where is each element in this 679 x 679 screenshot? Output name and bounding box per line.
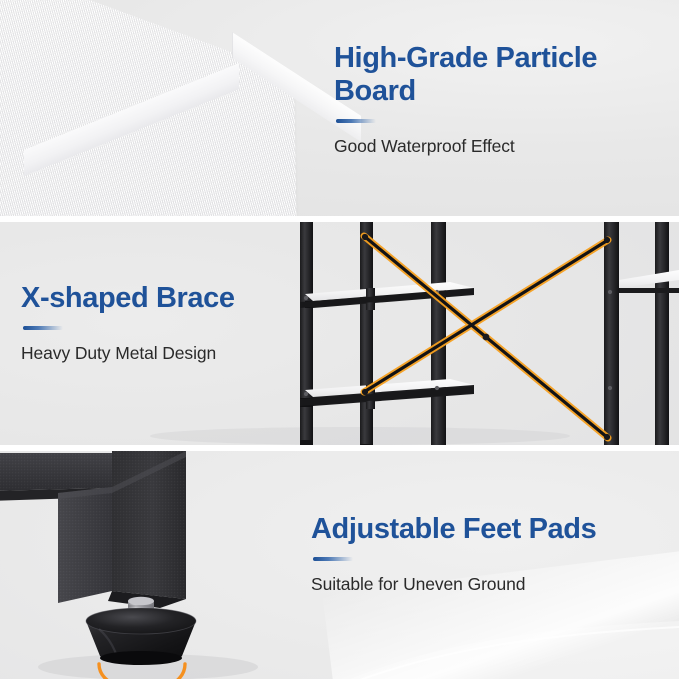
panel-1-headline: High-Grade Particle Board bbox=[334, 42, 670, 108]
panel-1-subline: Good Waterproof Effect bbox=[334, 136, 670, 158]
panel-particle-board: High-Grade Particle Board Good Waterproo… bbox=[0, 0, 679, 216]
panel-2-text-block: X-shaped Brace Heavy Duty Metal Design bbox=[21, 282, 321, 365]
panel-feet-pads: Adjustable Feet Pads Suitable for Uneven… bbox=[0, 451, 679, 679]
panel-3-accent-bar bbox=[313, 557, 353, 561]
panel-3-headline: Adjustable Feet Pads bbox=[311, 513, 661, 546]
panel-x-brace: X-shaped Brace Heavy Duty Metal Design bbox=[0, 222, 679, 445]
panel-2-headline: X-shaped Brace bbox=[21, 282, 321, 315]
product-infographic: High-Grade Particle Board Good Waterproo… bbox=[0, 0, 679, 679]
panel-1-text-block: High-Grade Particle Board Good Waterproo… bbox=[334, 42, 670, 157]
particle-board-image bbox=[0, 0, 364, 216]
panel-2-accent-bar bbox=[23, 326, 63, 330]
panel-1-accent-bar bbox=[336, 119, 376, 123]
panel-2-subline: Heavy Duty Metal Design bbox=[21, 343, 321, 365]
panel-3-text-block: Adjustable Feet Pads Suitable for Uneven… bbox=[311, 513, 661, 596]
panel-3-subline: Suitable for Uneven Ground bbox=[311, 574, 661, 596]
